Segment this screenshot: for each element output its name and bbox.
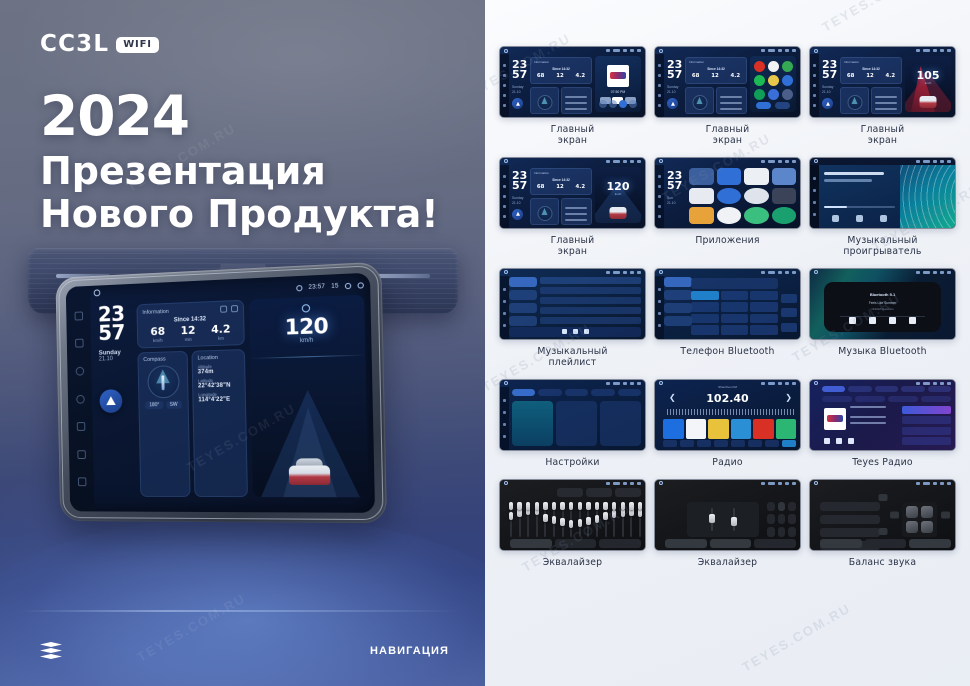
- wifi-icon: [916, 49, 920, 52]
- teyes-radio-filters[interactable]: [822, 396, 951, 402]
- thumbnail-home-apps[interactable]: 2357 Sunday21.10 Information Since 14:32…: [654, 46, 801, 118]
- navigation-arrow-icon: [512, 209, 523, 220]
- thumb-status-bar: [810, 158, 955, 165]
- hud-panel[interactable]: 120 km/h: [249, 295, 369, 498]
- altitude-value: 374m: [198, 368, 240, 375]
- information-header: Information: [142, 305, 238, 316]
- grid-cell[interactable]: Shenzhen FM ❮ ❯ 102.40 Радио: [654, 379, 801, 469]
- wifi-icon: [916, 382, 920, 385]
- grid-cell[interactable]: Teyes Радио: [809, 379, 956, 469]
- balance-up-button[interactable]: [878, 494, 887, 501]
- compass-readout: 180° SW: [144, 401, 183, 410]
- settings-tabs[interactable]: [512, 389, 641, 396]
- home-circle-icon: [659, 49, 663, 53]
- compass-dial-icon: [537, 95, 552, 110]
- thumb-side-rail: [655, 165, 664, 228]
- gear-icon: [785, 49, 789, 52]
- dial-key-8: [721, 314, 749, 324]
- thumb-side-rail: [655, 54, 664, 117]
- volume-icon: [623, 271, 627, 274]
- app-icon-spotify: [754, 75, 765, 86]
- grid-cell[interactable]: Телефон Bluetooth: [654, 268, 801, 369]
- thumb-trip: 68124.2: [531, 184, 591, 190]
- equalizer-bottom-bar[interactable]: [510, 539, 641, 548]
- gear-icon: [630, 482, 634, 485]
- dial-key-3: [750, 291, 778, 301]
- trip-time-value: 12: [180, 325, 195, 336]
- gear-icon: [940, 271, 944, 274]
- head-unit-bezel: 23:57 15 23 57 Sunday 21.10: [55, 262, 387, 524]
- rail-power-icon[interactable]: [75, 367, 84, 376]
- effect-9: [788, 527, 796, 537]
- navigation-arrow-icon: [512, 98, 523, 109]
- favorite-icon: [781, 294, 797, 303]
- teyes-radio-tabs[interactable]: [822, 386, 951, 392]
- gear-icon: [785, 271, 789, 274]
- app-icon-dvr: [772, 188, 797, 205]
- back-icon: [792, 49, 796, 52]
- refresh-icon[interactable]: [220, 305, 227, 312]
- rail-home-icon[interactable]: [76, 394, 85, 403]
- head-unit-screen[interactable]: 23:57 15 23 57 Sunday 21.10: [66, 273, 375, 513]
- trip-dist-unit: km: [211, 335, 230, 341]
- clock-minutes: 57: [98, 323, 132, 343]
- track-title: [824, 172, 884, 175]
- thumb-speed-unit: km/h: [595, 192, 641, 196]
- thumb-since: Since 14:32: [531, 178, 591, 182]
- thumb-location-card: [871, 87, 902, 114]
- gear-icon: [630, 271, 634, 274]
- gear-icon: [630, 382, 634, 385]
- home-circle-icon: [504, 481, 508, 485]
- compass-dial-icon: [847, 95, 862, 110]
- longitude-value: 114°4'22"E: [198, 396, 240, 403]
- playback-controls[interactable]: [824, 438, 854, 444]
- presentation-slide: CC3L WIFI 2024 Презентация Нового Продук…: [0, 0, 970, 686]
- preset-6: [776, 419, 797, 439]
- tab-sound: [538, 389, 561, 396]
- hero-panel: CC3L WIFI 2024 Презентация Нового Продук…: [0, 0, 485, 686]
- rail-volume-up-icon[interactable]: [77, 478, 86, 487]
- thumbnail-sound-balance[interactable]: [809, 479, 956, 551]
- thumb-info-title: Information: [534, 171, 549, 175]
- station-meta-2: [850, 422, 886, 424]
- grid-cell[interactable]: 2357 Sun21.10: [654, 157, 801, 258]
- home-circle-icon: [814, 270, 818, 274]
- thumb-date: Sunday21.10: [667, 85, 679, 95]
- equalizer-presets[interactable]: [510, 488, 641, 497]
- home-circle-icon: [814, 381, 818, 385]
- thumb-status-bar: [810, 47, 955, 54]
- clock-icon: [923, 271, 930, 274]
- compass-header: Compass: [143, 356, 182, 363]
- thumb-date: Sunday21.10: [822, 85, 834, 95]
- thumbnail-settings[interactable]: [499, 379, 646, 451]
- wifi-icon: [761, 49, 765, 52]
- back-icon: [792, 482, 796, 485]
- watermark: TEYES.COM.RU: [739, 600, 853, 674]
- prev-icon: [824, 438, 830, 444]
- compass-dial-icon: [537, 206, 552, 221]
- thumbnail-equalizer[interactable]: [499, 479, 646, 551]
- dial-pad[interactable]: [691, 291, 778, 335]
- phone-actions[interactable]: [781, 291, 797, 335]
- music-visualizer: [900, 165, 955, 228]
- grid-cell[interactable]: Музыкальный плейлист: [499, 268, 646, 369]
- seat-rear-left: [906, 521, 918, 533]
- track-artist: [824, 179, 872, 182]
- app-icon-play: [754, 89, 765, 100]
- settings-cards[interactable]: [512, 401, 641, 446]
- thumbnail-caption: Главный экран: [551, 125, 595, 147]
- thumbnail-bluetooth-music[interactable]: Bluetooth 5.1 Feels Like Summer Childish…: [809, 268, 956, 340]
- thumb-info-title: Information: [844, 60, 859, 64]
- car-body: [289, 465, 331, 485]
- thumbnail-caption: Настройки: [545, 458, 599, 469]
- back-icon: [792, 160, 796, 163]
- clock-icon: [768, 49, 775, 52]
- thumb-compass-card: [530, 87, 559, 114]
- thumbnail-caption: Эквалайзер: [698, 558, 758, 569]
- thumb-date: Sunday21.10: [512, 85, 524, 95]
- information-card[interactable]: Information Since 14:32: [136, 300, 244, 349]
- preset-1: [663, 419, 684, 439]
- station-meta-3: [850, 406, 886, 408]
- thumb-information-card: Information Since 14:32 68124.2: [840, 57, 902, 84]
- wifi-icon: [761, 482, 765, 485]
- radio-bottom-bar[interactable]: [663, 440, 796, 447]
- teyes-station-list[interactable]: [902, 406, 951, 446]
- screenshot-grid: 2357 Sunday21.10 Information Since 14:32…: [499, 46, 956, 569]
- back-icon: [947, 482, 951, 485]
- back-icon: [947, 382, 951, 385]
- dial-key-1: [691, 291, 719, 301]
- grid-cell[interactable]: Музыкальный проигрыватель: [809, 157, 956, 258]
- hero-title-line2: Нового Продукта!: [40, 193, 439, 236]
- rail-back-icon[interactable]: [76, 422, 85, 431]
- next-icon: [880, 215, 887, 222]
- balance-down-button[interactable]: [878, 528, 887, 535]
- thumb-clock: 2357: [822, 60, 837, 80]
- thumbnail-radio[interactable]: Shenzhen FM ❮ ❯ 102.40: [654, 379, 801, 451]
- sound-effect-buttons[interactable]: [767, 502, 796, 537]
- app-icon-gallery: [717, 207, 742, 224]
- volume-icon: [933, 160, 937, 163]
- volume-icon: [778, 160, 782, 163]
- grid-cell[interactable]: Баланс звука: [809, 479, 956, 569]
- radio-frequency: 102.40: [655, 392, 800, 405]
- dial-key-9: [750, 314, 778, 324]
- clock-column: 23 57 Sunday 21.10: [96, 305, 136, 497]
- wifi-icon: [761, 271, 765, 274]
- navigation-arrow-icon: [667, 98, 678, 109]
- playback-controls[interactable]: [842, 317, 923, 324]
- stop-icon: [889, 317, 896, 324]
- wifi-icon: [296, 285, 302, 291]
- thumb-clock: 2357: [512, 60, 527, 80]
- playlist-tracks[interactable]: [540, 277, 641, 326]
- thumbnail-caption: Радио: [712, 458, 742, 469]
- thumbnail-bluetooth-phone[interactable]: [654, 268, 801, 340]
- app-icon-chrome: [717, 188, 742, 205]
- wifi-icon: [916, 160, 920, 163]
- clock-icon: [613, 482, 620, 485]
- logo-text: CC3L: [40, 33, 109, 56]
- clock-icon: [923, 160, 930, 163]
- clock-icon: [923, 482, 930, 485]
- equalizer-sliders[interactable]: [510, 502, 641, 537]
- progress-bar[interactable]: [824, 206, 895, 208]
- prev-icon: [849, 317, 856, 324]
- effect-4: [767, 514, 775, 524]
- effect-5: [778, 514, 786, 524]
- apps-bottom-bar: [756, 102, 790, 109]
- thumbnail-playlist[interactable]: [499, 268, 646, 340]
- grid-cell[interactable]: 2357 Sunday21.10 Information Since 14:32…: [809, 46, 956, 147]
- balance-presets[interactable]: [820, 502, 880, 537]
- trip-time-unit: min: [181, 337, 196, 342]
- thumbnail-music-player[interactable]: [809, 157, 956, 229]
- trip-dist-value: 4.2: [211, 323, 231, 335]
- station-meta-1: [850, 416, 886, 418]
- compass-heading: 180°: [145, 401, 163, 409]
- thumb-clock: 2357: [667, 171, 682, 191]
- volume-icon: [778, 49, 782, 52]
- product-logo: CC3L WIFI: [40, 33, 159, 56]
- home-circle-icon: [504, 159, 508, 163]
- back-icon[interactable]: [357, 282, 363, 288]
- thumb-compass-card: [530, 198, 559, 225]
- phone-tabs[interactable]: [664, 277, 692, 328]
- thumb-information-card: Information Since 14:32 68124.2: [530, 57, 592, 84]
- logo-wifi-badge: WIFI: [116, 37, 159, 53]
- home-circle-icon[interactable]: [94, 289, 101, 296]
- playback-controls[interactable]: [824, 215, 895, 222]
- status-volume: 15: [331, 283, 339, 289]
- thumb-status-bar: [810, 480, 955, 487]
- next-icon: [909, 317, 916, 324]
- back-icon: [947, 49, 951, 52]
- app-icon-gallery: [768, 75, 779, 86]
- compass-title: Compass: [143, 356, 165, 363]
- grid-cell[interactable]: Эквалайзер: [499, 479, 646, 569]
- carplay-card: [556, 401, 597, 446]
- volume-icon: [933, 382, 937, 385]
- preset-5: [753, 419, 774, 439]
- location-card[interactable]: Location Altitude 374m Latitude: [191, 349, 247, 497]
- home-circle-icon: [504, 270, 508, 274]
- grid-cell[interactable]: 2357 Sunday21.10 Information Since 14:32…: [499, 46, 646, 147]
- info-column: Information Since 14:32: [136, 300, 247, 497]
- thumb-side-rail: [810, 54, 819, 117]
- volume-icon: [623, 49, 627, 52]
- thumb-side-rail: [655, 276, 664, 339]
- clock-icon: [768, 160, 775, 163]
- horizon-line: [250, 355, 365, 359]
- thumbnail-home-music[interactable]: 2357 Sunday21.10 Information Since 14:32…: [499, 46, 646, 118]
- longitude-row: Longitude 114°4'22"E: [198, 391, 240, 403]
- thumb-side-rail: [810, 165, 819, 228]
- next-icon: [848, 438, 854, 444]
- seat-rear-right: [921, 521, 933, 533]
- thumbnail-caption: Телефон Bluetooth: [680, 347, 774, 358]
- thumbnail-apps[interactable]: 2357 Sun21.10: [654, 157, 801, 229]
- balance-left-button[interactable]: [890, 511, 899, 518]
- compass-card[interactable]: Compass 180° SW: [137, 351, 190, 497]
- thumb-since: Since 14:32: [686, 67, 746, 71]
- screenshot-grid-panel: 2357 Sunday21.10 Information Since 14:32…: [485, 0, 970, 686]
- tab-display: [565, 389, 588, 396]
- wifi-icon: [606, 271, 610, 274]
- thumb-trip: 68124.2: [686, 73, 746, 79]
- fader-sliders[interactable]: [687, 502, 759, 537]
- seat-balance-pad[interactable]: [902, 502, 937, 537]
- album-art: [824, 408, 846, 430]
- preset-3: [708, 419, 729, 439]
- thumb-status-bar: [500, 47, 645, 54]
- back-icon: [637, 49, 641, 52]
- status-time: 23:57: [308, 283, 325, 290]
- call-icon: [781, 323, 797, 332]
- tab-wlan: [512, 389, 535, 396]
- app-icon-mail: [782, 75, 793, 86]
- back-icon: [637, 160, 641, 163]
- clock-icon: [613, 382, 620, 385]
- volume-icon: [623, 160, 627, 163]
- thumb-status-bar: [500, 480, 645, 487]
- teyes-now-playing: [822, 406, 896, 446]
- back-icon: [947, 271, 951, 274]
- rail-next-icon[interactable]: [75, 339, 84, 348]
- app-icon-filemanager: [689, 207, 714, 224]
- grid-cell[interactable]: Bluetooth 5.1 Feels Like Summer Childish…: [809, 268, 956, 369]
- thumb-location-card: [561, 198, 592, 225]
- thumb-apps-widget: [750, 56, 796, 112]
- playlist-categories[interactable]: [509, 277, 537, 328]
- car-3d-icon: [289, 454, 331, 485]
- latitude-row: Latitude 22°42'38"N: [198, 377, 240, 389]
- prev-icon: [832, 215, 839, 222]
- grid-cell[interactable]: 2357 Sunday21.10 Information Since 14:32…: [654, 46, 801, 147]
- phone-number-field[interactable]: [691, 278, 778, 289]
- rail-prev-icon[interactable]: [74, 311, 83, 320]
- home-circle-icon: [814, 159, 818, 163]
- more-card: [600, 401, 641, 446]
- thumb-information-card: Information Since 14:32 68124.2: [530, 168, 592, 195]
- app-icon-music: [744, 207, 769, 224]
- app-icon-grid: [689, 168, 796, 224]
- thumb-music-time: 07:50 PM: [595, 90, 641, 94]
- radio-presets[interactable]: [663, 419, 796, 439]
- equalizer-bottom-bar[interactable]: [665, 539, 796, 548]
- thumbnail-home-hud-red[interactable]: 2357 Sunday21.10 Information Since 14:32…: [809, 46, 956, 118]
- back-icon: [637, 382, 641, 385]
- trip-speed-unit: km/h: [150, 338, 165, 343]
- preset-4: [731, 419, 752, 439]
- bluetooth-track-title: Feels Like Summer: [824, 301, 941, 305]
- seat-front-left: [906, 506, 918, 518]
- volume-icon: [623, 482, 627, 485]
- back-icon: [637, 271, 641, 274]
- clock-icon: [768, 482, 775, 485]
- tab-system: [618, 389, 641, 396]
- grid-cell[interactable]: Эквалайзер: [654, 479, 801, 569]
- thumb-info-title: Information: [534, 60, 549, 64]
- thumbnail-home-hud[interactable]: 2357 Sunday21.10 Information Since 14:32…: [499, 157, 646, 229]
- app-icon-aux: [689, 168, 714, 185]
- effect-6: [788, 514, 796, 524]
- bluetooth-track-artist: Childish Gambino: [824, 307, 941, 311]
- screen-content: 23:57 15 23 57 Sunday 21.10: [90, 273, 375, 513]
- thumb-date: Sun21.10: [667, 196, 676, 206]
- dial-key-5: [721, 302, 749, 312]
- playlist-player-bar[interactable]: [509, 327, 641, 337]
- location-title: Location: [197, 355, 218, 362]
- car-3d-icon: [610, 207, 627, 219]
- thumb-speed-unit: km/h: [905, 81, 951, 85]
- information-title: Information: [142, 308, 169, 315]
- thumb-side-rail: [500, 387, 509, 450]
- gear-icon: [940, 49, 944, 52]
- thumbnail-equalizer-2[interactable]: [654, 479, 801, 551]
- app-icon-bluetooth: [717, 168, 742, 185]
- radio-tuning-scale[interactable]: [667, 409, 794, 415]
- dial-key-0: [721, 325, 749, 335]
- grid-cell[interactable]: Настройки: [499, 379, 646, 469]
- thumb-location-card: [561, 87, 592, 114]
- thumb-music-tabs: [598, 100, 638, 108]
- thumbnail-caption: Teyes Радио: [852, 458, 913, 469]
- app-icon-bluetooth-music: [744, 168, 769, 185]
- seat-front-right: [921, 506, 933, 518]
- dashboard-trim-line: [20, 610, 460, 612]
- day-date: 21.10: [99, 355, 133, 362]
- prev-icon: [562, 329, 567, 334]
- dial-key-7: [691, 314, 719, 324]
- gear-icon[interactable]: [345, 282, 351, 288]
- expand-icon[interactable]: [231, 305, 238, 312]
- thumb-side-rail: [500, 54, 509, 117]
- dial-key-6: [750, 302, 778, 312]
- effect-2: [778, 502, 786, 512]
- thumb-since: Since 14:32: [841, 67, 901, 71]
- location-header: Location: [197, 354, 239, 361]
- rail-volume-down-icon[interactable]: [77, 450, 86, 459]
- thumb-compass-card: [840, 87, 869, 114]
- balance-right-button[interactable]: [941, 511, 950, 518]
- music-info-pane: [819, 165, 900, 228]
- trip-stat: 12 min: [180, 325, 195, 342]
- home-circle-icon: [659, 481, 663, 485]
- navigation-arrow-icon[interactable]: [99, 389, 122, 413]
- thumbnail-teyes-radio[interactable]: [809, 379, 956, 451]
- next-icon: [584, 329, 589, 334]
- balance-bottom-bar[interactable]: [820, 539, 951, 548]
- home-circle-icon: [659, 159, 663, 163]
- app-icon-more: [782, 89, 793, 100]
- grid-cell[interactable]: 2357 Sunday21.10 Information Since 14:32…: [499, 157, 646, 258]
- gear-icon: [940, 482, 944, 485]
- compass-dial-icon: [692, 95, 707, 110]
- volume-icon: [623, 382, 627, 385]
- back-icon: [637, 482, 641, 485]
- pause-icon: [856, 215, 863, 222]
- gear-icon: [785, 160, 789, 163]
- wifi-icon: [606, 482, 610, 485]
- back-icon: [792, 271, 796, 274]
- home-circle-icon: [504, 381, 508, 385]
- trip-stat: 4.2 km: [211, 323, 231, 341]
